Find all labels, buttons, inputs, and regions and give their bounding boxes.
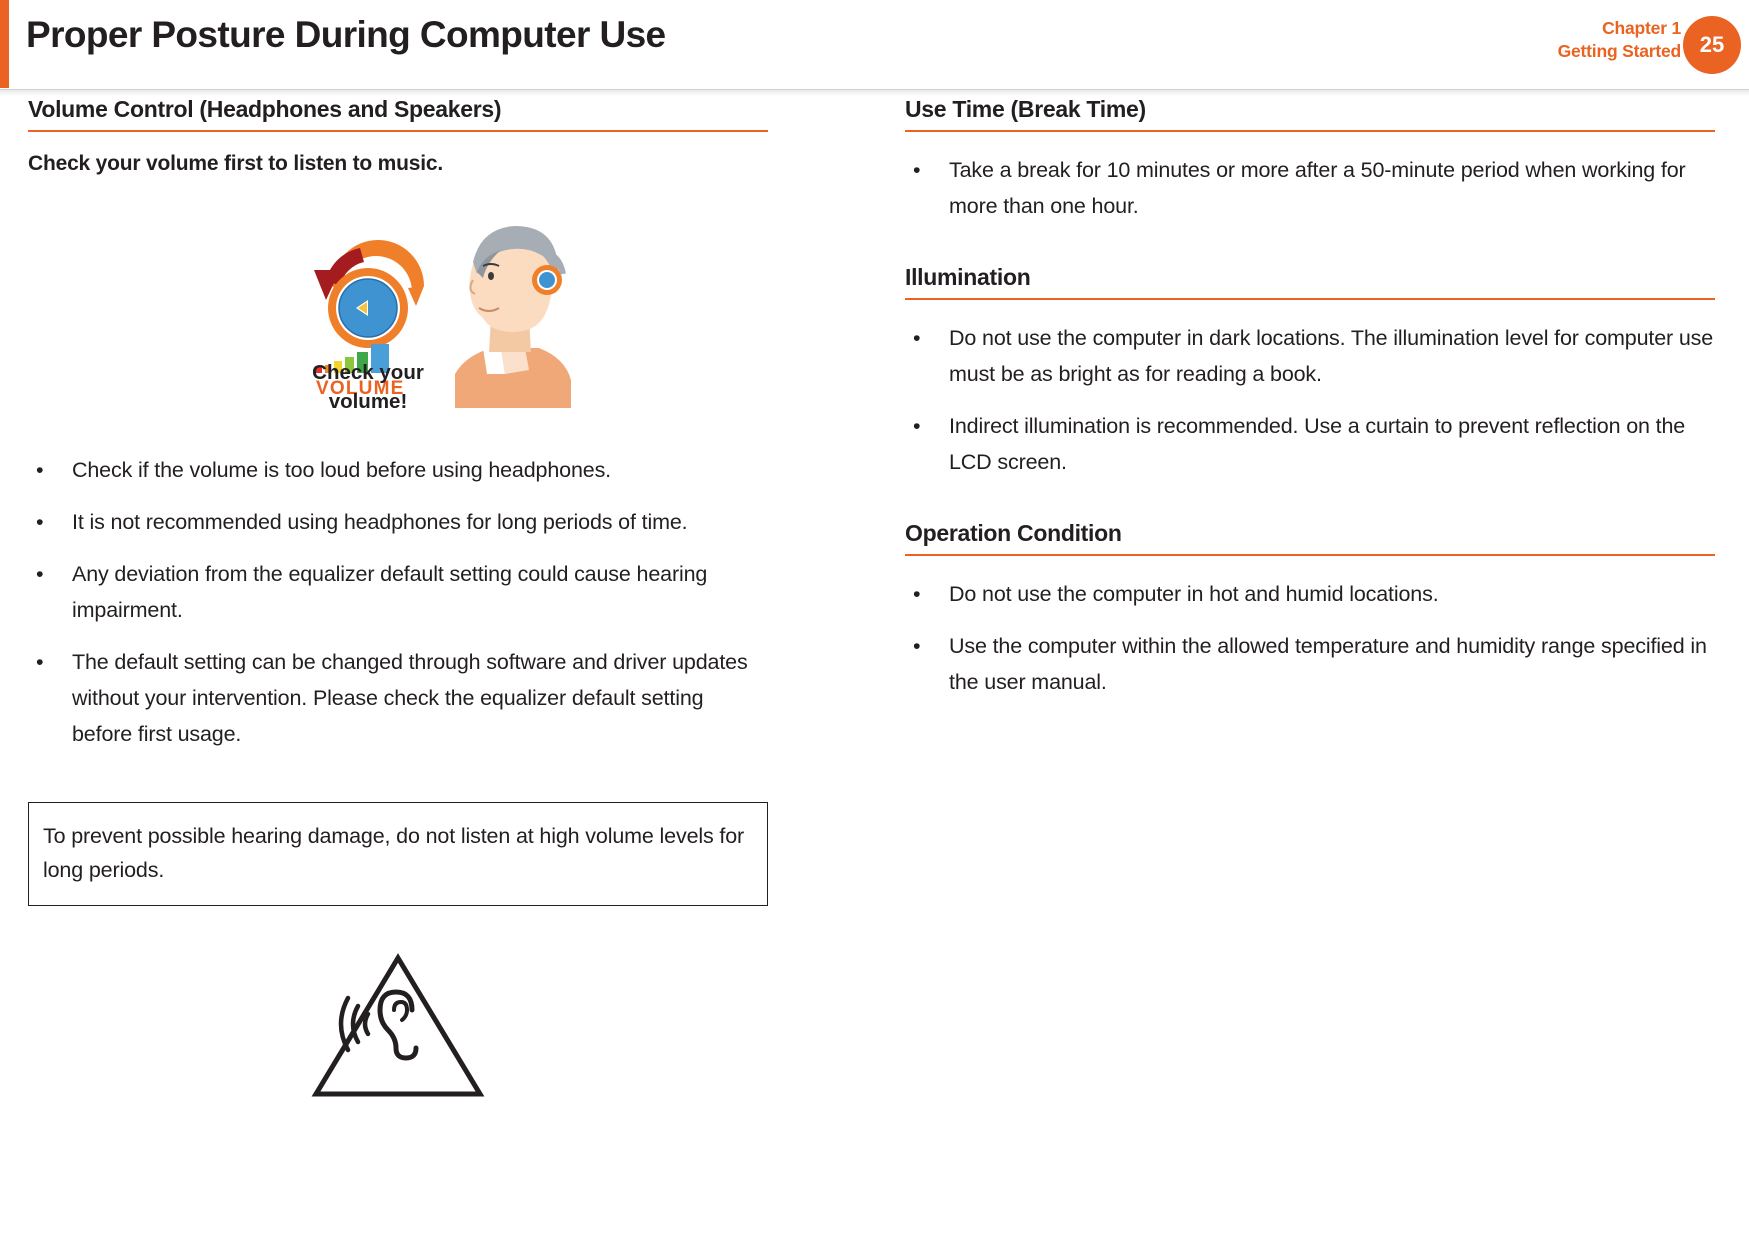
person-with-headphones-graphic	[443, 198, 583, 398]
bullet-icon: •	[913, 628, 920, 664]
page-content: Volume Control (Headphones and Speakers)…	[0, 96, 1749, 1241]
list-item: • The default setting can be changed thr…	[28, 644, 768, 752]
bullet-icon: •	[36, 644, 43, 680]
section-heading-illumination: Illumination	[905, 264, 1715, 300]
bullet-icon: •	[36, 452, 43, 488]
list-item-text: The default setting can be changed throu…	[72, 650, 748, 746]
header-accent-bar	[0, 0, 9, 88]
list-item: • Any deviation from the equalizer defau…	[28, 556, 768, 628]
list-item-text: Do not use the computer in dark location…	[949, 326, 1713, 386]
right-column: Use Time (Break Time) • Take a break for…	[905, 96, 1715, 716]
list-item: • Do not use the computer in hot and hum…	[905, 576, 1715, 612]
section-volume-control: Volume Control (Headphones and Speakers)…	[28, 96, 768, 752]
volume-bullet-list: • Check if the volume is too loud before…	[28, 452, 768, 752]
bullet-icon: •	[913, 408, 920, 444]
page-title: Proper Posture During Computer Use	[26, 14, 666, 56]
list-item-text: Indirect illumination is recommended. Us…	[949, 414, 1685, 474]
volume-illustration: VOLUME Check your volume!	[28, 198, 768, 438]
page-header: Proper Posture During Computer Use Chapt…	[0, 0, 1749, 90]
volume-lead-text: Check your volume first to listen to mus…	[28, 152, 768, 176]
bullet-icon: •	[913, 320, 920, 356]
use-time-bullet-list: • Take a break for 10 minutes or more af…	[905, 152, 1715, 224]
list-item-text: It is not recommended using headphones f…	[72, 510, 687, 534]
list-item-text: Take a break for 10 minutes or more afte…	[949, 158, 1686, 218]
illumination-bullet-list: • Do not use the computer in dark locati…	[905, 320, 1715, 480]
left-column: Volume Control (Headphones and Speakers)…	[28, 96, 768, 1104]
bullet-icon: •	[36, 504, 43, 540]
document-page: Proper Posture During Computer Use Chapt…	[0, 0, 1749, 1241]
section-heading-operation-condition: Operation Condition	[905, 520, 1715, 556]
section-use-time: Use Time (Break Time) • Take a break for…	[905, 96, 1715, 224]
section-operation-condition: Operation Condition • Do not use the com…	[905, 520, 1715, 700]
header-shadow	[0, 89, 1749, 96]
hearing-warning-text: To prevent possible hearing damage, do n…	[43, 819, 753, 887]
list-item-text: Check if the volume is too loud before u…	[72, 458, 611, 482]
list-item: • Take a break for 10 minutes or more af…	[905, 152, 1715, 224]
list-item: • Use the computer within the allowed te…	[905, 628, 1715, 700]
bullet-icon: •	[913, 576, 920, 612]
hearing-warning-icon-container	[28, 944, 768, 1104]
list-item: • Do not use the computer in dark locati…	[905, 320, 1715, 392]
bullet-icon: •	[913, 152, 920, 188]
list-item-text: Use the computer within the allowed temp…	[949, 634, 1707, 694]
operation-condition-bullet-list: • Do not use the computer in hot and hum…	[905, 576, 1715, 700]
list-item: • It is not recommended using headphones…	[28, 504, 768, 540]
chapter-number: Chapter 1	[1558, 17, 1681, 40]
list-item-text: Do not use the computer in hot and humid…	[949, 582, 1439, 606]
page-number-badge: 25	[1683, 16, 1741, 74]
section-illumination: Illumination • Do not use the computer i…	[905, 264, 1715, 480]
list-item: • Check if the volume is too loud before…	[28, 452, 768, 488]
list-item: • Indirect illumination is recommended. …	[905, 408, 1715, 480]
bullet-icon: •	[36, 556, 43, 592]
section-heading-use-time: Use Time (Break Time)	[905, 96, 1715, 132]
chapter-label: Chapter 1 Getting Started	[1558, 17, 1681, 63]
hearing-warning-box: To prevent possible hearing damage, do n…	[28, 802, 768, 906]
hearing-damage-warning-icon	[308, 944, 488, 1104]
volume-caption-line2: volume!	[268, 387, 468, 416]
list-item-text: Any deviation from the equalizer default…	[72, 562, 707, 622]
volume-caption: Check your volume!	[268, 358, 468, 416]
section-heading-volume-control: Volume Control (Headphones and Speakers)	[28, 96, 768, 132]
volume-caption-line1: Check your	[268, 358, 468, 387]
chapter-name: Getting Started	[1558, 40, 1681, 63]
